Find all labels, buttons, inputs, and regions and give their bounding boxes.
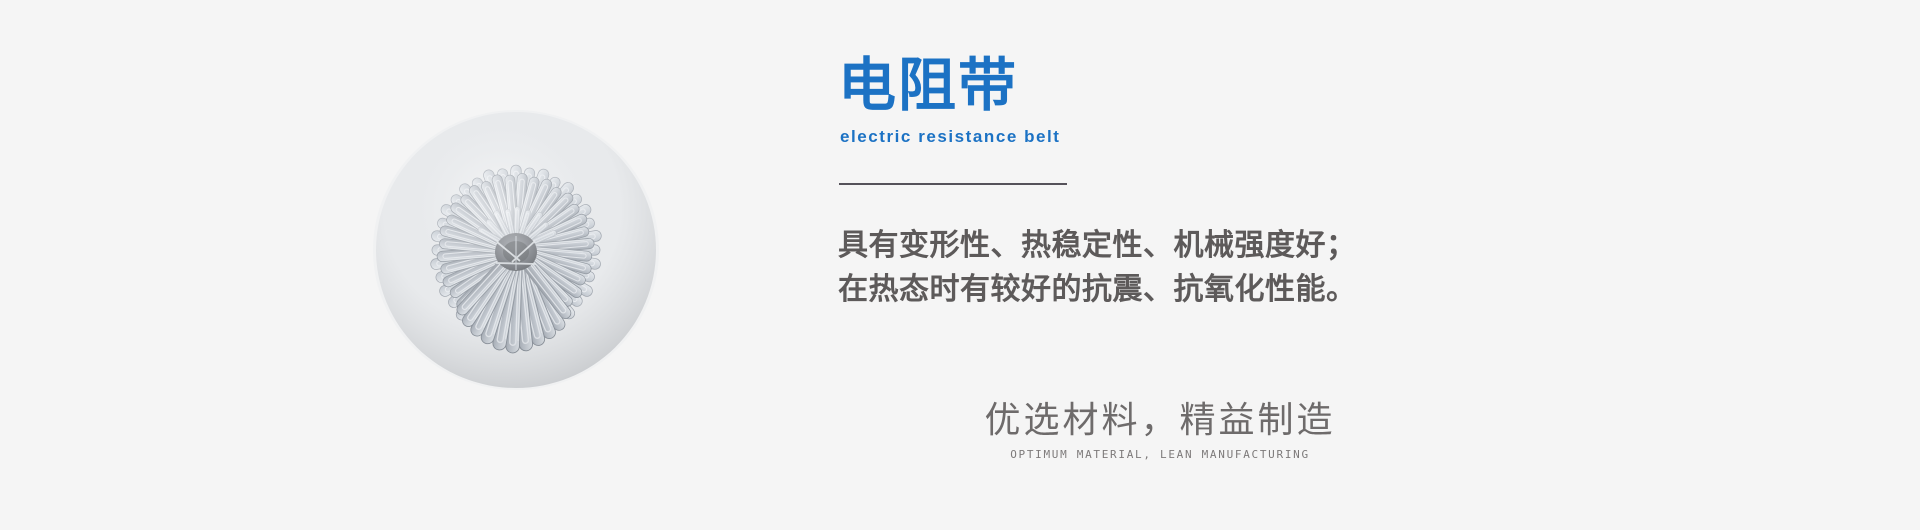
product-banner: 电阻带 electric resistance belt 具有变形性、热稳定性、… [0,0,1920,530]
title-block: 电阻带 electric resistance belt [838,52,1358,148]
tagline-english: OPTIMUM MATERIAL, LEAN MANUFACTURING [950,447,1370,462]
resistance-belt-illustration [370,78,662,438]
description-line-2: 在热态时有较好的抗震、抗氧化性能。 [838,268,1478,312]
banner-copy: 电阻带 electric resistance belt 具有变形性、热稳定性、… [838,0,1838,530]
description-line-1: 具有变形性、热稳定性、机械强度好； [838,224,1478,268]
title-divider [839,183,1067,185]
product-image [370,78,662,438]
tagline-chinese: 优选材料，精益制造 [950,398,1370,444]
tagline-block: 优选材料，精益制造 OPTIMUM MATERIAL, LEAN MANUFAC… [950,398,1370,462]
page-title: 电阻带 [838,52,1358,118]
page-subtitle: electric resistance belt [840,126,1358,148]
description-block: 具有变形性、热稳定性、机械强度好； 在热态时有较好的抗震、抗氧化性能。 [838,224,1478,312]
